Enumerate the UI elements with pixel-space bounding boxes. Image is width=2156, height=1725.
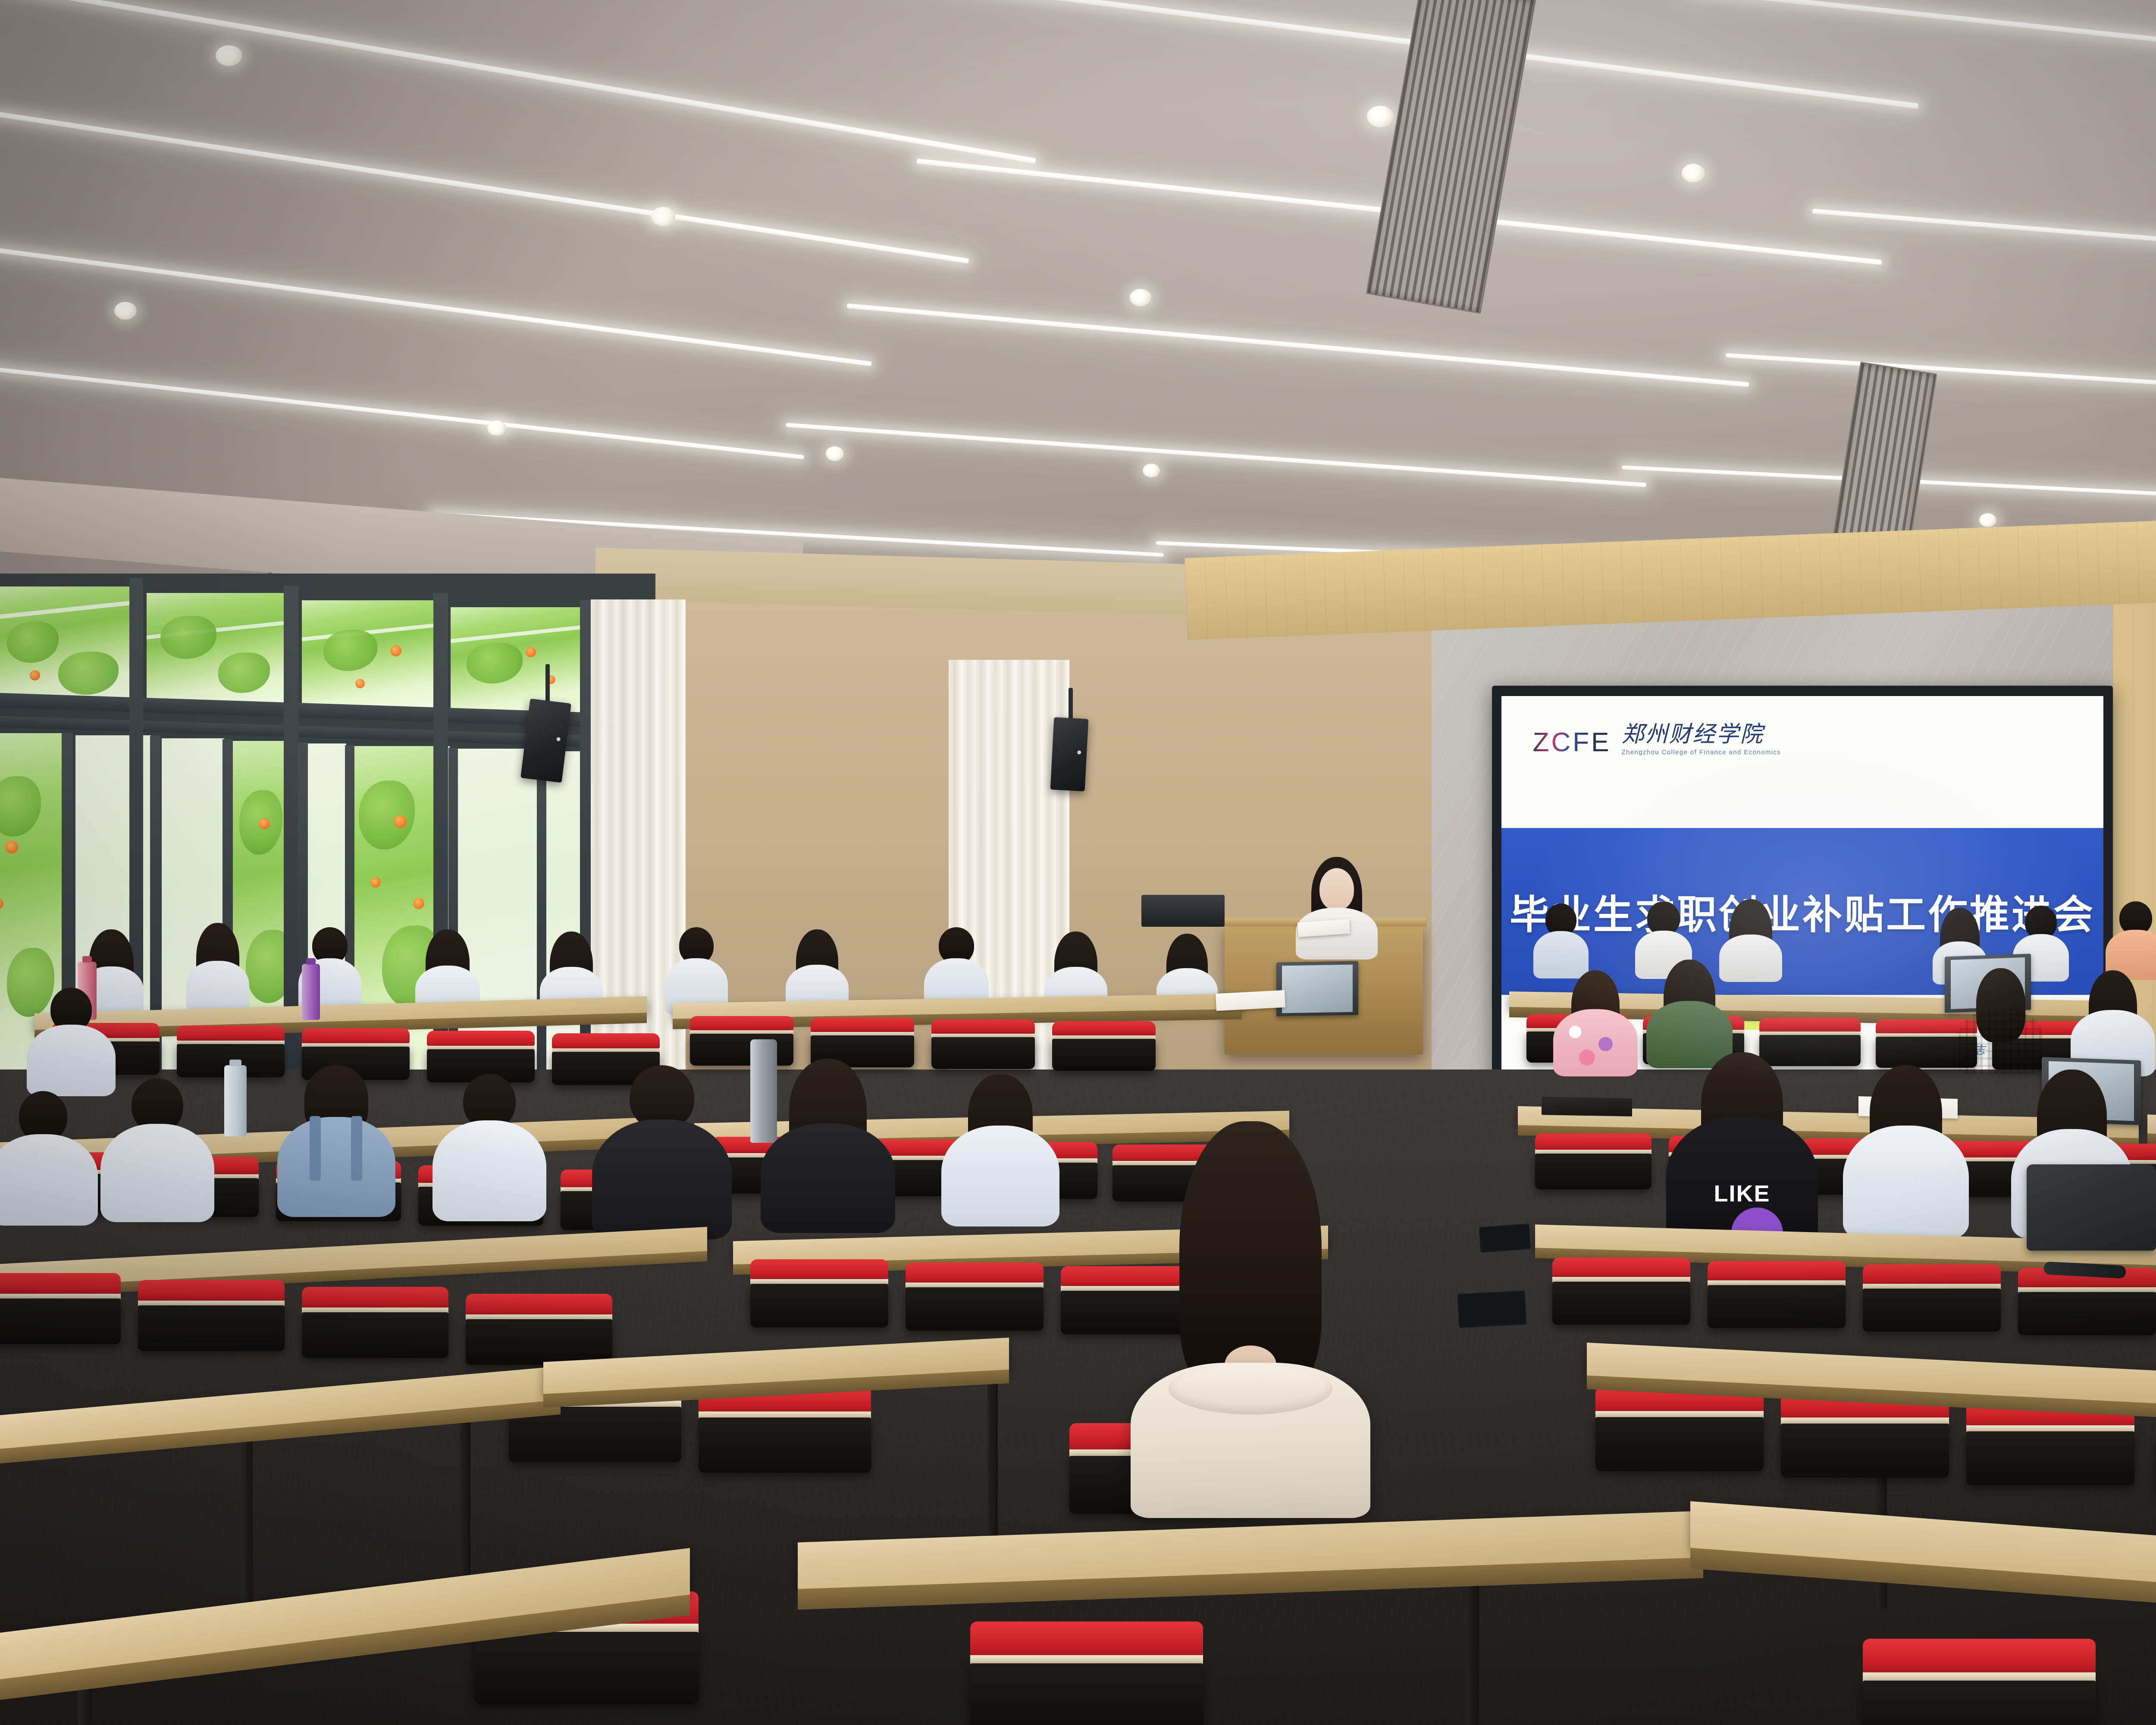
overall-strap — [351, 1116, 362, 1181]
auditorium-seat[interactable] — [906, 1263, 1044, 1331]
wall-speaker — [1050, 717, 1089, 791]
audience-member — [185, 923, 250, 1011]
torso — [186, 961, 249, 1013]
logo-chinese-name: 郑州财经学院 — [1621, 723, 1764, 746]
slide-top-band — [1501, 696, 2103, 828]
audience-member-denim-overalls — [276, 1065, 397, 1216]
recessed-downlight — [1367, 106, 1394, 127]
desk-leg — [459, 1410, 470, 1596]
auditorium-seat[interactable] — [0, 1273, 121, 1344]
audience-member-floral — [1552, 970, 1639, 1076]
auditorium-seat[interactable] — [750, 1259, 888, 1327]
audience-member-dark-shirt — [591, 1065, 733, 1238]
auditorium-seat[interactable] — [2018, 1268, 2156, 1335]
audience-member — [431, 1074, 548, 1220]
auditorium-seat[interactable] — [466, 1294, 612, 1365]
institution-logo: ZCFE 郑州财经学院 Zhengzhou College of Finance… — [1533, 723, 1781, 756]
audience-member — [1841, 1065, 1971, 1238]
handout-paper — [1216, 990, 1285, 1011]
recessed-downlight — [1682, 164, 1705, 182]
auditorium-seat[interactable] — [1863, 1639, 2096, 1725]
recessed-downlight — [826, 446, 844, 461]
water-bottle — [224, 1065, 247, 1136]
audience-member-black-mlb-tee: LIKE — [1664, 1052, 1820, 1246]
foreground-woman-cream-hoodie — [1130, 1121, 1371, 1509]
audience-member-peach-shirt — [2104, 901, 2156, 979]
hoodie-collar — [1169, 1363, 1332, 1414]
torso — [592, 1120, 732, 1239]
logo-abbr: ZCFE — [1533, 729, 1611, 756]
torso — [0, 1134, 98, 1226]
window-mullion-vertical — [537, 750, 546, 1091]
water-bottle — [302, 964, 320, 1020]
recessed-downlight — [487, 420, 506, 436]
desk-leg — [1466, 1578, 1479, 1725]
auditorium-seat[interactable] — [302, 1287, 448, 1358]
window-pane-transom — [147, 593, 285, 707]
window-pane-transom — [451, 607, 584, 717]
recessed-downlight — [1130, 289, 1151, 306]
audience-member — [940, 1074, 1061, 1225]
audience-member — [1533, 903, 1589, 977]
auditorium-seat[interactable] — [970, 1621, 1203, 1725]
auditorium-seat[interactable] — [1863, 1264, 2001, 1332]
audience-member — [0, 1091, 99, 1225]
torso — [1843, 1126, 1969, 1239]
smartphone[interactable] — [1478, 1223, 1532, 1253]
tee-graphic-text: LIKE — [1714, 1182, 1770, 1206]
laptop[interactable] — [1276, 961, 1358, 1016]
auditorium-seat[interactable] — [1535, 1133, 1651, 1189]
auditorium-seat[interactable] — [931, 1019, 1035, 1069]
auditorium-seat[interactable] — [1708, 1261, 1846, 1328]
torso — [100, 1124, 214, 1222]
backpack — [2027, 1164, 2156, 1251]
torso — [432, 1120, 546, 1221]
torso — [1959, 1008, 2043, 1074]
desk-row — [2147, 1114, 2156, 1148]
audience-member — [99, 1078, 216, 1220]
auditorium-seat[interactable] — [699, 1386, 871, 1473]
window-pane-transom — [302, 600, 436, 712]
recessed-downlight — [1143, 464, 1160, 477]
auditorium-seat[interactable] — [138, 1280, 285, 1351]
notebook — [1542, 1097, 1632, 1117]
window-pane-transom — [0, 586, 129, 703]
audience-member-plaid — [1958, 968, 2044, 1074]
recessed-downlight — [114, 302, 137, 320]
smartphone[interactable] — [1457, 1290, 1527, 1329]
torso — [277, 1117, 395, 1217]
audience-member-dark-top — [759, 1059, 897, 1231]
recessed-downlight — [1979, 513, 1996, 527]
audience-member-green-sweater — [1645, 960, 1733, 1067]
desk-leg — [987, 1380, 998, 1561]
presenter-head — [1319, 868, 1354, 910]
auditorium-seat[interactable] — [1052, 1021, 1156, 1071]
auditorium-seat[interactable] — [690, 1016, 793, 1066]
logo-english-name: Zhengzhou College of Finance and Economi… — [1621, 749, 1781, 756]
torso — [761, 1123, 895, 1233]
overall-strap — [310, 1116, 321, 1181]
lectern-monitor — [1141, 895, 1225, 927]
recessed-downlight — [651, 207, 675, 226]
torso — [1553, 1009, 1638, 1076]
desk-leg — [241, 1436, 253, 1617]
lecture-hall-photo: ZCFE 郑州财经学院 Zhengzhou College of Finance… — [0, 0, 2156, 1725]
auditorium-seat[interactable] — [1552, 1258, 1690, 1325]
torso — [941, 1126, 1059, 1226]
auditorium-seat[interactable] — [1595, 1386, 1764, 1471]
recessed-downlight — [216, 45, 242, 66]
